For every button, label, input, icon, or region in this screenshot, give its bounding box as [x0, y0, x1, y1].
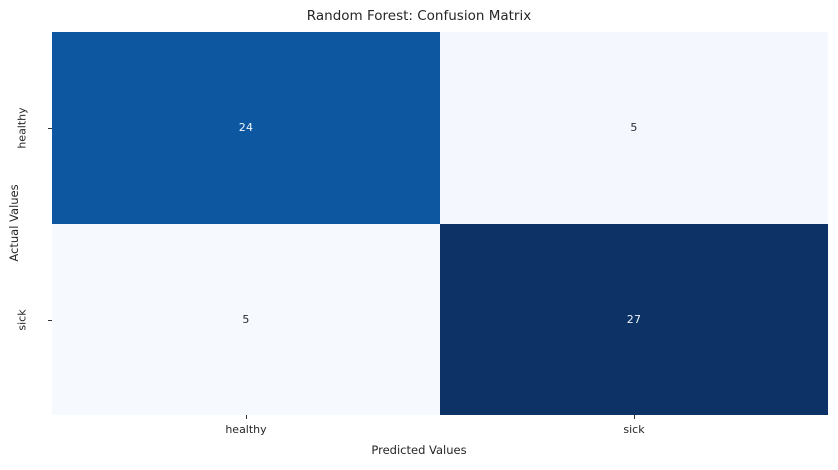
heatmap-cell-value: 5	[242, 313, 249, 326]
heatmap-cell-sick-healthy: 5	[52, 224, 440, 416]
heatmap-cell-healthy-sick: 5	[440, 32, 828, 224]
y-tick-mark-sick	[48, 320, 52, 321]
heatmap-grid: 24 5 5 27	[52, 32, 828, 415]
y-tick-label-sick: sick	[16, 309, 29, 330]
y-tick-mark-healthy	[48, 128, 52, 129]
x-tick-mark-sick	[634, 415, 635, 419]
x-tick-label-sick: sick	[623, 423, 644, 436]
heatmap-cell-value: 5	[630, 121, 637, 134]
page-title: Random Forest: Confusion Matrix	[0, 7, 838, 25]
x-tick-label-healthy: healthy	[225, 423, 266, 436]
heatmap-cell-value: 24	[239, 121, 253, 134]
x-tick-mark-healthy	[246, 415, 247, 419]
heatmap-cell-value: 27	[627, 313, 641, 326]
y-axis-label: Actual Values	[7, 184, 21, 261]
confusion-matrix-figure: Random Forest: Confusion Matrix 24 5 5 2…	[0, 0, 838, 470]
x-axis-label: Predicted Values	[0, 443, 838, 457]
heatmap-cell-sick-sick: 27	[440, 224, 828, 416]
heatmap-cell-healthy-healthy: 24	[52, 32, 440, 224]
y-tick-label-healthy: healthy	[16, 107, 29, 148]
